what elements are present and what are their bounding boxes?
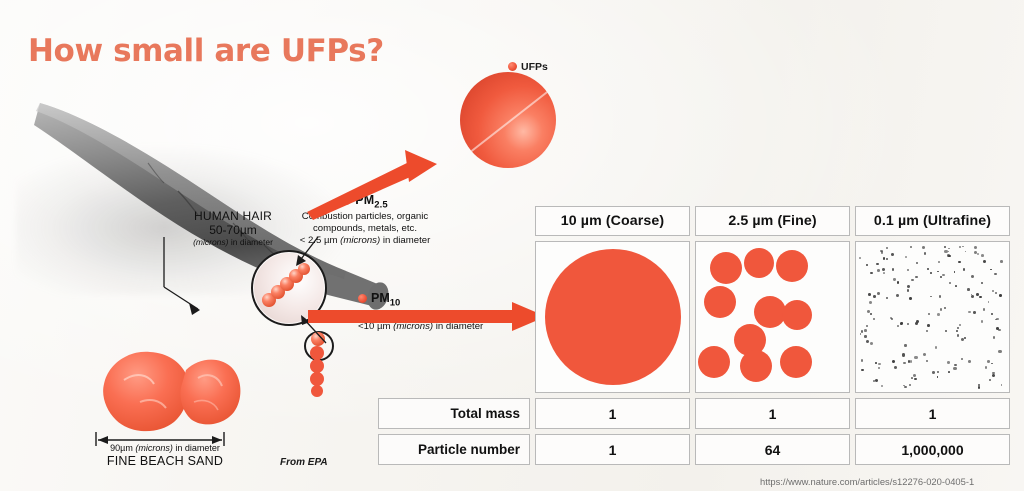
ultrafine-particle [959,246,962,249]
particle-number-ultrafine: 1,000,000 [855,434,1010,465]
illustration-corner-cell [378,241,530,393]
ultrafine-particle [926,360,928,362]
coarse-particle [545,249,681,385]
table-row: Particle number 1 64 1,000,000 [378,434,1010,465]
ultrafine-particle [861,330,864,333]
ultrafine-particle [977,253,979,255]
ultrafine-particle [877,292,880,295]
ultrafine-particle [875,362,877,364]
ultrafine-particle [915,322,918,325]
ultrafine-particle [942,274,945,277]
ultrafine-particle [937,313,940,316]
ultrafine-particle [932,371,935,374]
ultrafine-particle [904,344,906,346]
row-label-total-mass: Total mass [378,398,530,429]
ultrafine-particle [964,337,966,339]
header-corner-cell [378,206,530,236]
ultrafine-particle [979,296,981,298]
ultrafine-particle [859,257,861,259]
ultrafine-particle [883,272,885,274]
ultrafine-particle [861,369,863,371]
ultrafine-particle [881,385,883,387]
particle-size-table: 10 µm (Coarse) 2.5 µm (Fine) 0.1 µm (Ult… [378,206,1010,470]
ultrafine-particle [947,361,950,364]
ultrafine-particle [907,269,909,271]
column-header-fine: 2.5 µm (Fine) [695,206,850,236]
beach-sand-label: 90µm (microns) in diameter FINE BEACH SA… [60,443,270,470]
ultrafine-particle [940,308,942,310]
hair-leader-line [158,237,228,337]
ultrafine-particle [974,251,977,254]
ultrafine-particle [953,367,956,370]
ultrafine-particle [949,282,951,284]
ultrafine-particle [961,358,963,360]
ultrafine-particle [945,330,947,332]
ultrafine-particle [869,301,872,304]
ultrafine-particle [904,386,906,388]
fine-particle [740,350,772,382]
table-illustration-row [378,241,1010,393]
ultrafine-particle [988,301,990,303]
ultrafine-particle [881,251,883,253]
ultrafine-particle [974,246,977,249]
ultrafine-particle [926,330,928,332]
ultrafine-particle [957,334,959,336]
ultrafine-particle [927,268,929,270]
ultrafine-particle [892,268,895,271]
ultrafine-particle [878,363,881,366]
ultrafine-particle [995,292,997,294]
ultrafine-particle [958,261,960,263]
ultrafine-particle-field [856,242,1009,392]
ultrafine-particle [940,276,942,278]
source-url: https://www.nature.com/articles/s12276-0… [760,476,974,487]
ultrafine-particle [983,308,986,311]
ultrafine-particle [870,272,872,274]
ultrafine-particle [896,294,899,297]
ultrafine-particle [965,251,967,253]
ultrafine-particle [876,263,878,265]
ultrafine-particle [886,258,888,260]
ultrafine-particle [944,246,946,248]
page-title: How small are UFPs? [28,33,384,69]
ultrafine-particle [961,338,964,341]
ultrafine-particle [996,318,998,320]
ultrafine-particle [864,335,866,337]
ufp-sphere-illustration [460,72,556,168]
particle-number-fine: 64 [695,434,850,465]
ultrafine-particle [913,374,916,377]
fine-particle [710,252,742,284]
ultrafine-particle [973,311,976,314]
ultrafine-particle [968,311,971,314]
fine-particle [776,250,808,282]
ultrafine-particle [981,320,983,322]
ultrafine-particle [866,325,868,327]
ultrafine-particle [956,330,958,332]
ultrafine-particle [992,374,995,377]
ultrafine-particle [962,246,964,248]
ultrafine-particle [909,297,912,300]
ultrafine-particle [886,297,888,299]
ultrafine-particle [866,264,868,266]
ultrafine-particle [907,289,909,291]
row-label-particle-number: Particle number [378,434,530,465]
ultrafine-particle [937,371,939,373]
ultrafine-particle [991,363,993,365]
coarse-particle-cell [535,241,690,393]
ufps-bullet-icon [508,62,517,71]
ultrafine-particle [864,329,867,332]
ultrafine-particle [891,318,893,320]
total-mass-ultrafine: 1 [855,398,1010,429]
ultrafine-particle [873,380,875,382]
ultrafine-particle [990,269,992,271]
ultrafine-particle [927,324,930,327]
ultrafine-particle [891,253,894,256]
ultrafine-particle [886,247,888,249]
ultrafine-particle [957,327,959,329]
ultrafine-particle [994,273,996,275]
ultrafine-particle [954,271,956,273]
ultrafine-particle [897,281,899,283]
column-header-coarse: 10 µm (Coarse) [535,206,690,236]
ultrafine-particle [907,323,909,325]
ultrafine-particle [867,310,870,313]
fine-particle-field [696,242,849,392]
ultrafine-particle [987,360,990,363]
ultrafine-particle [955,285,957,287]
ultrafine-particle [938,261,940,263]
ultrafine-particle [909,384,911,386]
ultrafine-particle [978,384,980,386]
fine-particle [782,300,812,330]
ultrafine-particle [937,376,939,378]
ultrafine-particle [868,293,871,296]
ultrafine-particle [954,364,957,367]
ultrafine-particle [930,272,932,274]
ultrafine-particle-cell [855,241,1010,393]
ultrafine-particle [902,353,905,356]
ultrafine-particle [911,279,913,281]
ultrafine-particle [959,324,962,327]
ultrafine-particle [948,251,950,253]
ultrafine-particle [948,248,950,250]
ultrafine-particle [939,295,942,298]
ultrafine-particle [893,278,895,280]
ultrafine-particle [922,246,925,249]
ultrafine-particle [996,327,999,330]
fine-particle [780,346,812,378]
total-mass-fine: 1 [695,398,850,429]
ultrafine-particle [914,378,917,381]
ultrafine-particle [981,254,984,257]
fine-particle-cell [695,241,850,393]
ultrafine-particle [873,295,876,298]
ultrafine-particle [995,319,997,321]
ultrafine-particle [1001,384,1003,386]
ultrafine-particle [998,350,1001,353]
fine-particle [704,286,736,318]
ultrafine-particle [860,333,862,335]
ultrafine-particle [892,360,895,363]
ufps-label: UFPs [508,61,548,73]
ultrafine-particle [866,340,869,343]
ultrafine-particle [981,282,983,284]
ultrafine-particle [993,336,996,339]
ultrafine-particle [928,313,930,315]
ultrafine-particle [907,285,910,288]
ultrafine-particle [875,379,878,382]
ultrafine-particle [944,250,947,253]
particle-number-coarse: 1 [535,434,690,465]
ultrafine-particle [914,356,917,359]
ultrafine-particle [978,386,981,389]
ultrafine-particle [963,268,966,271]
ultrafine-particle [883,257,886,260]
ultrafine-particle [930,296,932,298]
ultrafine-particle [911,377,913,379]
ultrafine-particle [935,346,937,348]
ultrafine-particle [924,252,926,254]
ultrafine-particle [878,367,881,370]
ultrafine-particle [903,362,906,365]
ultrafine-particle [967,288,970,291]
ultrafine-particle [992,290,994,292]
ultrafine-particle [897,325,899,327]
ultrafine-particle [882,268,885,271]
ultrafine-particle [971,275,974,278]
ultrafine-particle [910,360,912,362]
ultrafine-particle [971,295,974,298]
ultrafine-particle [861,359,864,362]
ultrafine-particle [989,379,992,382]
ultrafine-particle [905,256,907,258]
ultrafine-particle [976,293,979,296]
ultrafine-particle [968,360,971,363]
ultrafine-particle [999,294,1002,297]
ultrafine-particle [894,366,897,369]
ultrafine-particle [1000,260,1003,263]
ultrafine-particle [948,371,950,373]
ultrafine-particle [983,260,986,263]
table-header-row: 10 µm (Coarse) 2.5 µm (Fine) 0.1 µm (Ult… [378,206,1010,236]
column-header-ultrafine: 0.1 µm (Ultrafine) [855,206,1010,236]
total-mass-coarse: 1 [535,398,690,429]
fine-particle [698,346,730,378]
epa-attribution: From EPA [280,457,328,468]
ultrafine-particle [991,313,993,315]
ultrafine-particle [870,313,872,315]
ultrafine-particle [877,269,880,272]
fine-particle [744,248,774,278]
table-row: Total mass 1 1 1 [378,398,1010,429]
ultrafine-particle [910,246,912,248]
ultrafine-particle [915,276,917,278]
ultrafine-particle [873,318,875,320]
ultrafine-particle [870,342,873,345]
ultrafine-particle [944,307,946,309]
ultrafine-particle [985,366,988,369]
ultrafine-particle [916,262,918,264]
ultrafine-particle [937,271,939,273]
ultrafine-particle [923,353,926,356]
